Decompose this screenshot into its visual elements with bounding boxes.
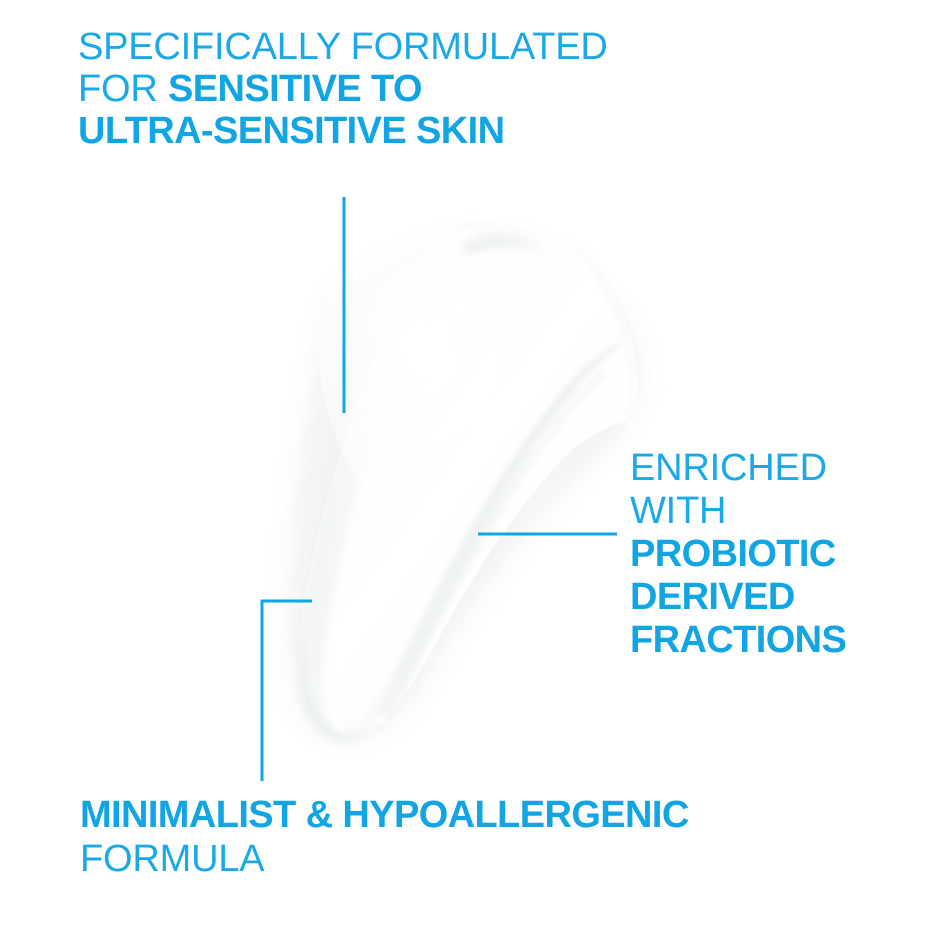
infographic-canvas: SPECIFICALLY FORMULATED FOR SENSITIVE TO… [0,0,930,930]
callout-bottom-line-1: MINIMALIST & HYPOALLERGENIC [80,793,689,837]
cream-swipe-blob [270,179,639,742]
callout-right-line-4: DERIVED [630,576,846,619]
callout-right-line-5: FRACTIONS [630,619,846,662]
callout-right: ENRICHED WITH PROBIOTIC DERIVED FRACTION… [630,447,846,662]
callout-top-left: SPECIFICALLY FORMULATED FOR SENSITIVE TO… [78,26,608,152]
callout-bottom-left: MINIMALIST & HYPOALLERGENIC FORMULA [80,793,689,881]
callout-top-line-2-light: FOR [78,68,168,110]
callout-top-line-1: SPECIFICALLY FORMULATED [78,26,608,68]
callout-right-line-1: ENRICHED [630,447,846,490]
callout-right-line-3: PROBIOTIC [630,533,846,576]
callout-top-line-3: ULTRA-SENSITIVE SKIN [78,110,608,152]
callout-top-line-2: FOR SENSITIVE TO [78,68,608,110]
callout-top-line-2-bold: SENSITIVE TO [168,68,422,110]
callout-bottom-line-2: FORMULA [80,837,689,881]
callout-right-line-2: WITH [630,490,846,533]
leader-line-bottom [262,601,312,781]
product-shadow [289,236,641,739]
